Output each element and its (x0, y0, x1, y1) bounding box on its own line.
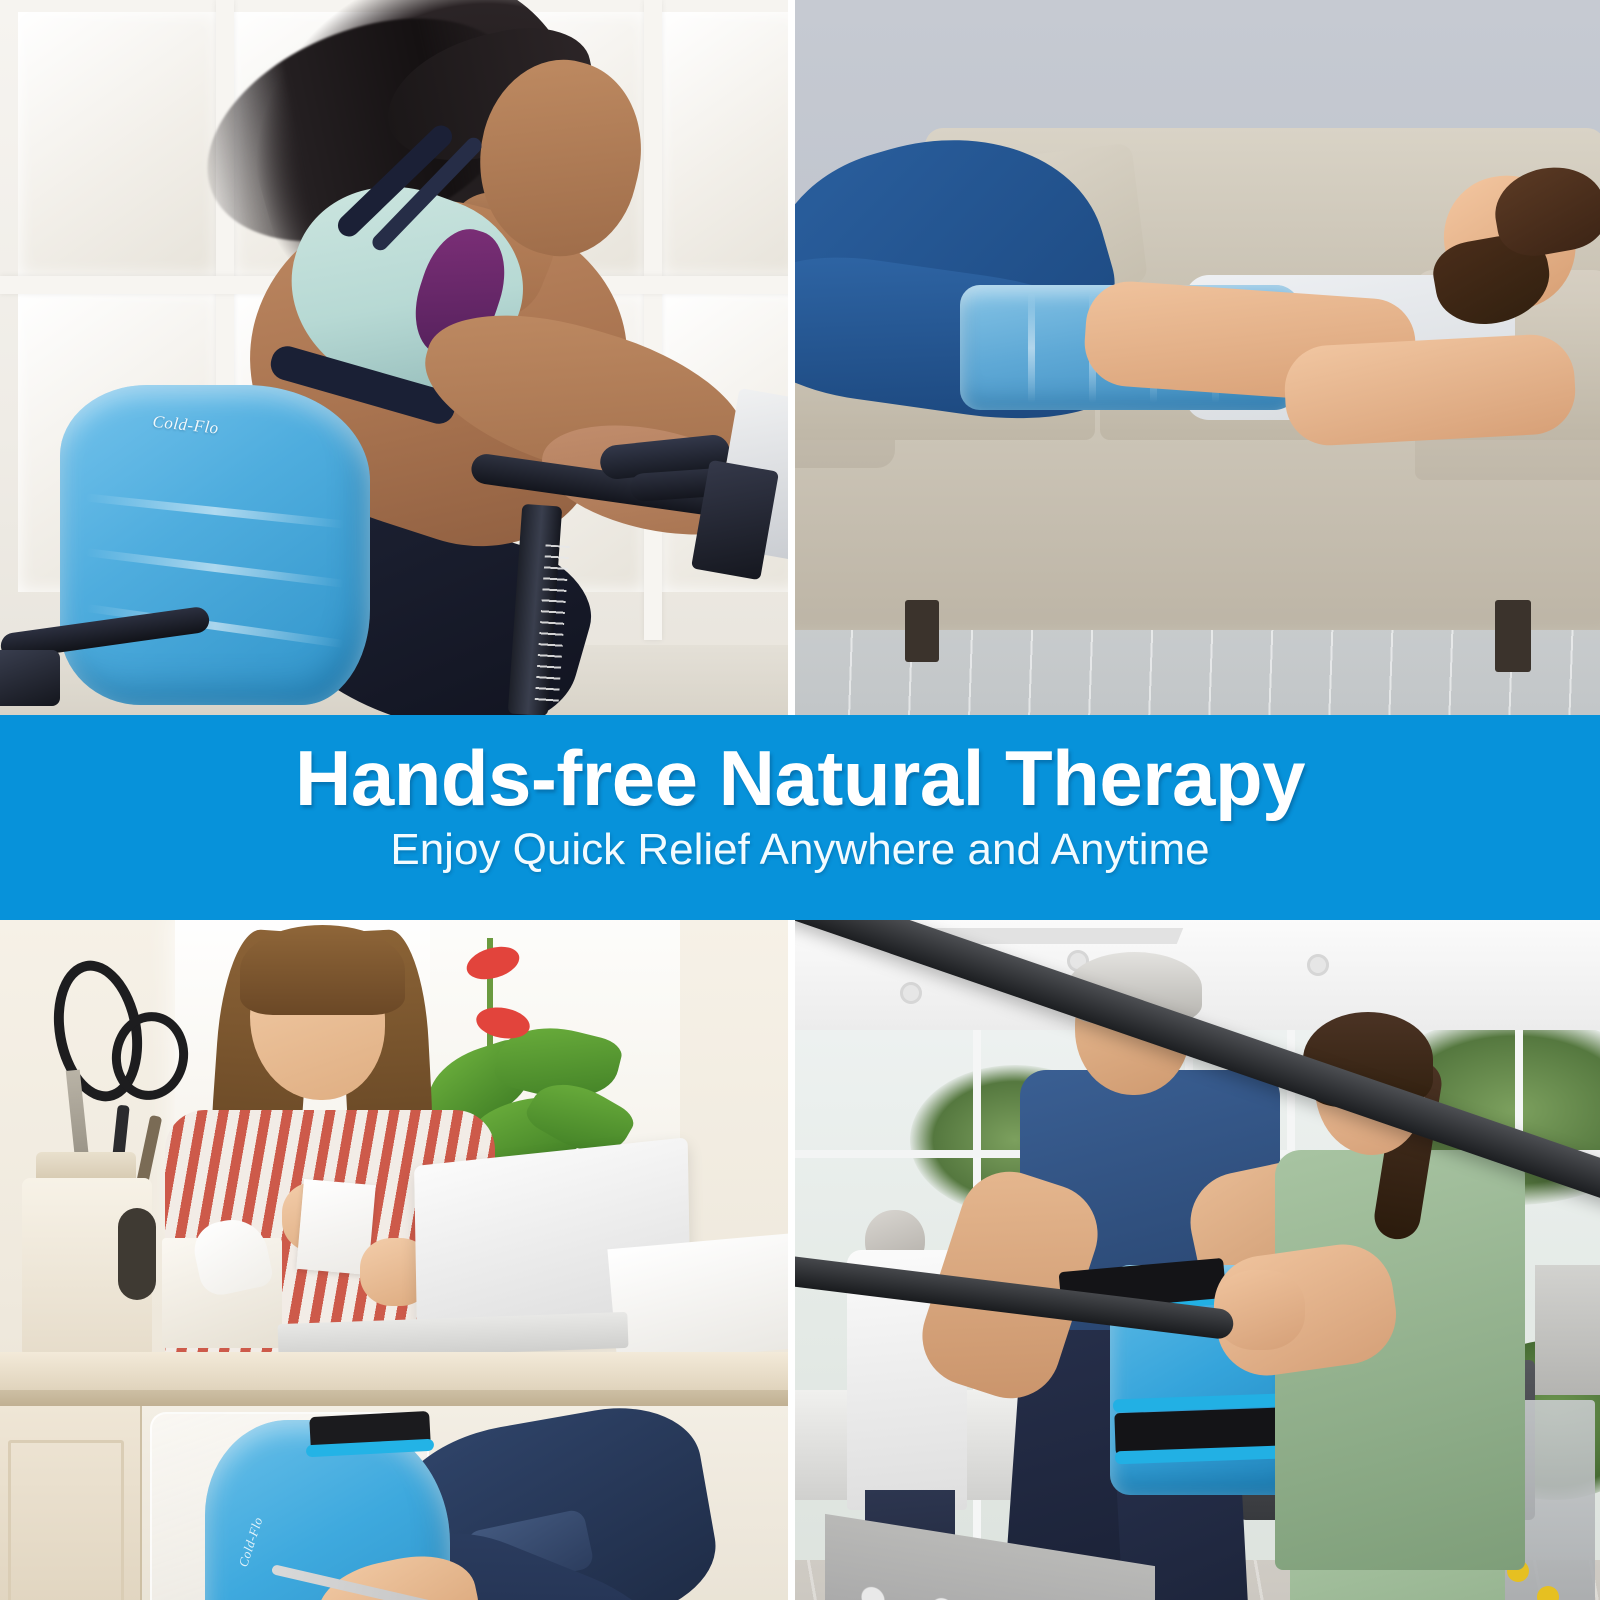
cabinet-panel (8, 1440, 124, 1600)
nurse-hand (1215, 1270, 1305, 1350)
city-building (1535, 1265, 1600, 1395)
ceiling-downlight (900, 982, 922, 1004)
pack-seam (85, 493, 345, 528)
organizer-slot (118, 1208, 156, 1300)
banner-headline: Hands-free Natural Therapy (0, 737, 1600, 819)
bike-hub (0, 650, 60, 706)
panel-rehab-physical-therapy (795, 920, 1600, 1600)
window-pane (18, 12, 218, 277)
window-mullion (644, 0, 662, 640)
scene-home-office: Cold-Flo (0, 920, 788, 1600)
arm (1283, 332, 1578, 447)
hair (240, 925, 405, 1015)
banner-subheadline: Enjoy Quick Relief Anywhere and Anytime (0, 825, 1600, 875)
window-pane (660, 12, 788, 277)
paper-stack (607, 1231, 788, 1364)
scene-rehab-clinic (795, 920, 1600, 1600)
promo-banner: Hands-free Natural Therapy Enjoy Quick R… (0, 715, 1600, 920)
sofa-leg (905, 600, 939, 662)
panel-woman-on-exercise-bike: Cold-Flo (0, 0, 788, 715)
scene-home-gym: Cold-Flo (0, 0, 788, 715)
sofa-leg (1495, 600, 1531, 672)
pack-seam (1028, 293, 1035, 403)
panel-man-resting-on-sofa (795, 0, 1600, 715)
product-collage: Cold-Flo (0, 0, 1600, 1600)
pack-seam (85, 548, 344, 588)
panel-woman-at-desk: Cold-Flo (0, 920, 788, 1600)
ceiling-downlight (1307, 954, 1329, 976)
scene-living-room (795, 0, 1600, 715)
